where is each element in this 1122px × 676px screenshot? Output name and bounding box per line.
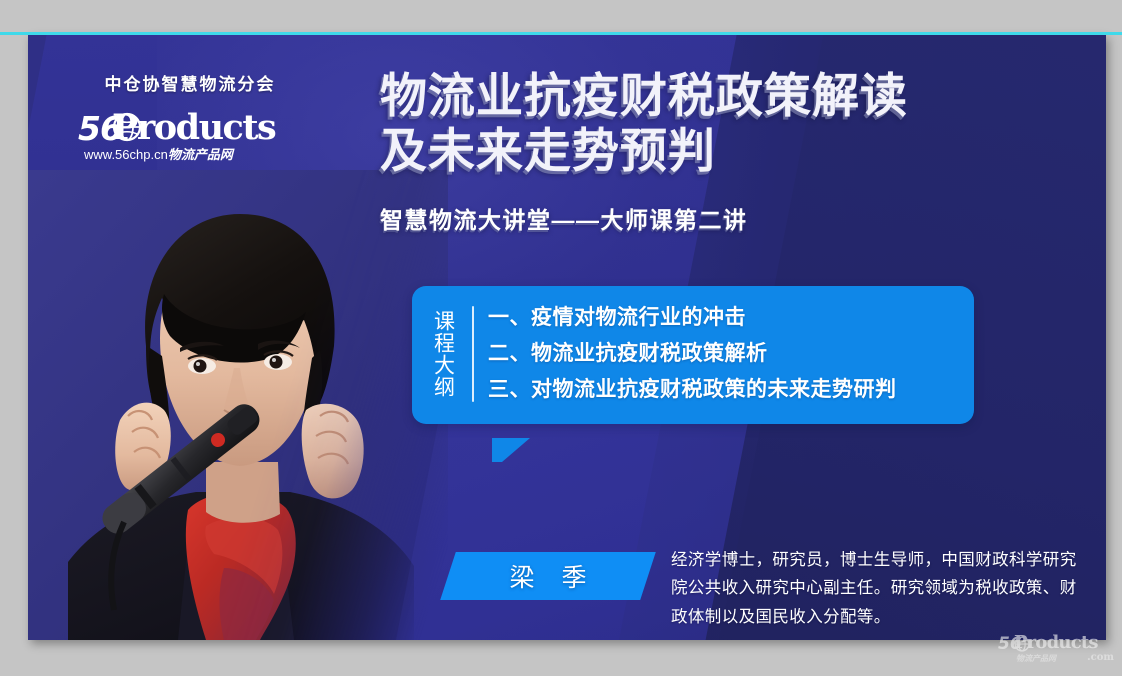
organization-name: 中仓协智慧物流分会 bbox=[50, 70, 330, 95]
speaker-name: 梁 季 bbox=[448, 552, 648, 600]
outline-item-list: 一、疫情对物流行业的冲击 二、物流业抗疫财税政策解析 三、对物流业抗疫财税政策的… bbox=[488, 300, 974, 408]
outline-bubble-tail bbox=[492, 438, 530, 462]
brand-lockup: 56 Products www.56chp.cn物流产品网 bbox=[50, 107, 330, 165]
outline-divider bbox=[472, 306, 474, 402]
watermark-tld: .com bbox=[1087, 652, 1114, 663]
main-title: 物流业抗疫财税政策解读 及未来走势预判 bbox=[380, 68, 1080, 179]
outline-label: 课程大纲 bbox=[412, 300, 472, 408]
speaker-portrait-photo bbox=[28, 170, 448, 640]
site-watermark: 56 Products 物流产品网 .com bbox=[996, 632, 1114, 672]
cyan-accent-rule bbox=[0, 32, 1122, 35]
watermark-subline: 物流产品网 bbox=[1016, 653, 1056, 664]
watermark-cn-name: 物流产品网 bbox=[1016, 654, 1056, 663]
brand-subline: www.56chp.cn物流产品网 bbox=[84, 144, 233, 163]
speaker-name-banner: 梁 季 bbox=[440, 552, 656, 600]
watermark-lockup: 56 Products 物流产品网 .com bbox=[996, 632, 1114, 672]
outline-item: 二、物流业抗疫财税政策解析 bbox=[488, 336, 956, 372]
title-area: 物流业抗疫财税政策解读 及未来走势预判 智慧物流大讲堂——大师课第二讲 bbox=[380, 68, 1080, 235]
main-title-line-1: 物流业抗疫财税政策解读 bbox=[380, 69, 908, 122]
brand-wordmark: Products bbox=[112, 107, 275, 148]
portrait-image bbox=[28, 170, 448, 640]
association-logo-block: 中仓协智慧物流分会 56 Products www.56chp.cn物流产品网 bbox=[50, 70, 330, 165]
outline-item: 一、疫情对物流行业的冲击 bbox=[488, 300, 956, 336]
outline-item: 三、对物流业抗疫财税政策的未来走势研判 bbox=[488, 372, 956, 408]
course-outline-bubble: 课程大纲 一、疫情对物流行业的冲击 二、物流业抗疫财税政策解析 三、对物流业抗疫… bbox=[412, 286, 974, 424]
speaker-bio: 经济学博士，研究员，博士生导师，中国财政科学研究院公共收入研究中心副主任。研究领… bbox=[671, 546, 1083, 631]
watermark-wordmark: Products bbox=[1014, 632, 1098, 653]
brand-url: www.56chp.cn bbox=[84, 147, 168, 162]
screenshot-canvas: 中仓协智慧物流分会 56 Products www.56chp.cn物流产品网 bbox=[0, 0, 1122, 676]
main-title-line-2: 及未来走势预判 bbox=[380, 123, 1080, 178]
brand-cn-name: 物流产品网 bbox=[168, 147, 233, 162]
presentation-slide: 中仓协智慧物流分会 56 Products www.56chp.cn物流产品网 bbox=[28, 34, 1106, 640]
subtitle: 智慧物流大讲堂——大师课第二讲 bbox=[380, 201, 1080, 235]
